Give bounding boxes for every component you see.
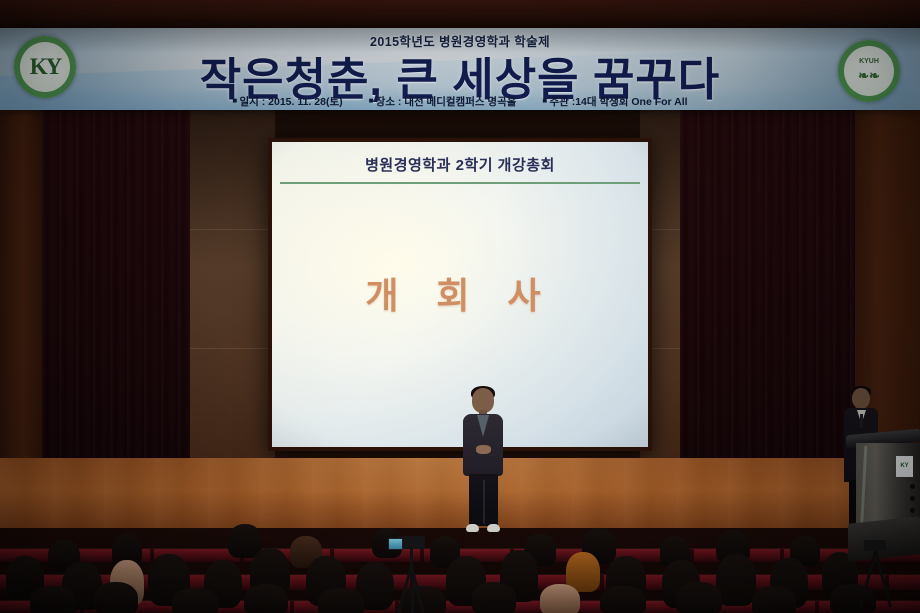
secondary-camera-body: [864, 540, 886, 551]
lectern-button-3[interactable]: [910, 508, 915, 513]
emblem-logo-text: KYUH ❧❧: [858, 58, 880, 84]
audience-member: [676, 582, 722, 613]
ky-logo-text: KY: [30, 54, 61, 80]
audience-member: [752, 586, 796, 613]
audience-member: [600, 586, 646, 613]
lectern-plaque: KY: [896, 456, 913, 477]
tripod-leg: [874, 551, 892, 608]
presenter-hands: [476, 445, 491, 454]
slide-divider-rule: [280, 182, 640, 184]
auditorium-scene: 2015학년도 병원경영학과 학술제 작은청춘, 큰 세상을 꿈꾸다 일시 : …: [0, 0, 920, 613]
audience-member: [94, 582, 138, 613]
wall-panel-left: [180, 110, 275, 460]
audience-member: [318, 588, 364, 613]
banner-info-row: 일시 : 2015. 11. 28(토) 장소 : 대전 메디컬캠퍼스 명곡홀 …: [0, 94, 920, 109]
tripod-leg: [859, 551, 877, 608]
audience-member: [172, 588, 218, 613]
secondary-camera-tripod: [860, 540, 890, 613]
audience-member: [540, 584, 580, 613]
audience-member: [30, 586, 76, 613]
podium-person-head: [852, 388, 870, 409]
slide-title: 병원경영학과 2학기 개강총회: [272, 154, 648, 175]
lectern-button-1[interactable]: [910, 484, 915, 489]
slide-body-text: 개 회 사: [272, 267, 648, 319]
department-emblem-logo-icon: KYUH ❧❧: [838, 40, 900, 102]
banner-info-place: 장소 : 대전 메디컬캠퍼스 명곡홀: [369, 94, 517, 109]
event-banner: 2015학년도 병원경영학과 학술제 작은청춘, 큰 세상을 꿈꾸다 일시 : …: [0, 28, 920, 110]
lectern-button-2[interactable]: [910, 496, 915, 501]
camcorder-lcd-screen: [388, 538, 403, 550]
wreath-icon: ❧❧: [858, 68, 880, 84]
presenter-center-stage: [455, 388, 511, 536]
presenter-leg-gap: [483, 480, 485, 524]
banner-info-date: 일시 : 2015. 11. 28(토): [232, 94, 342, 109]
audience-member: [716, 554, 756, 606]
tripod-leg: [411, 566, 414, 613]
presenter-shoe-left: [466, 524, 479, 532]
podium-person-tie: [860, 414, 863, 428]
camcorder-on-tripod: [392, 536, 432, 613]
presenter-shoe-right: [487, 524, 500, 532]
banner-info-host: 주관 :14대 학생회 One For All: [542, 94, 687, 109]
audience-member: [244, 584, 288, 613]
ky-university-logo-icon: KY: [14, 36, 76, 98]
ceiling: [0, 0, 920, 30]
audience-member: [472, 582, 516, 613]
